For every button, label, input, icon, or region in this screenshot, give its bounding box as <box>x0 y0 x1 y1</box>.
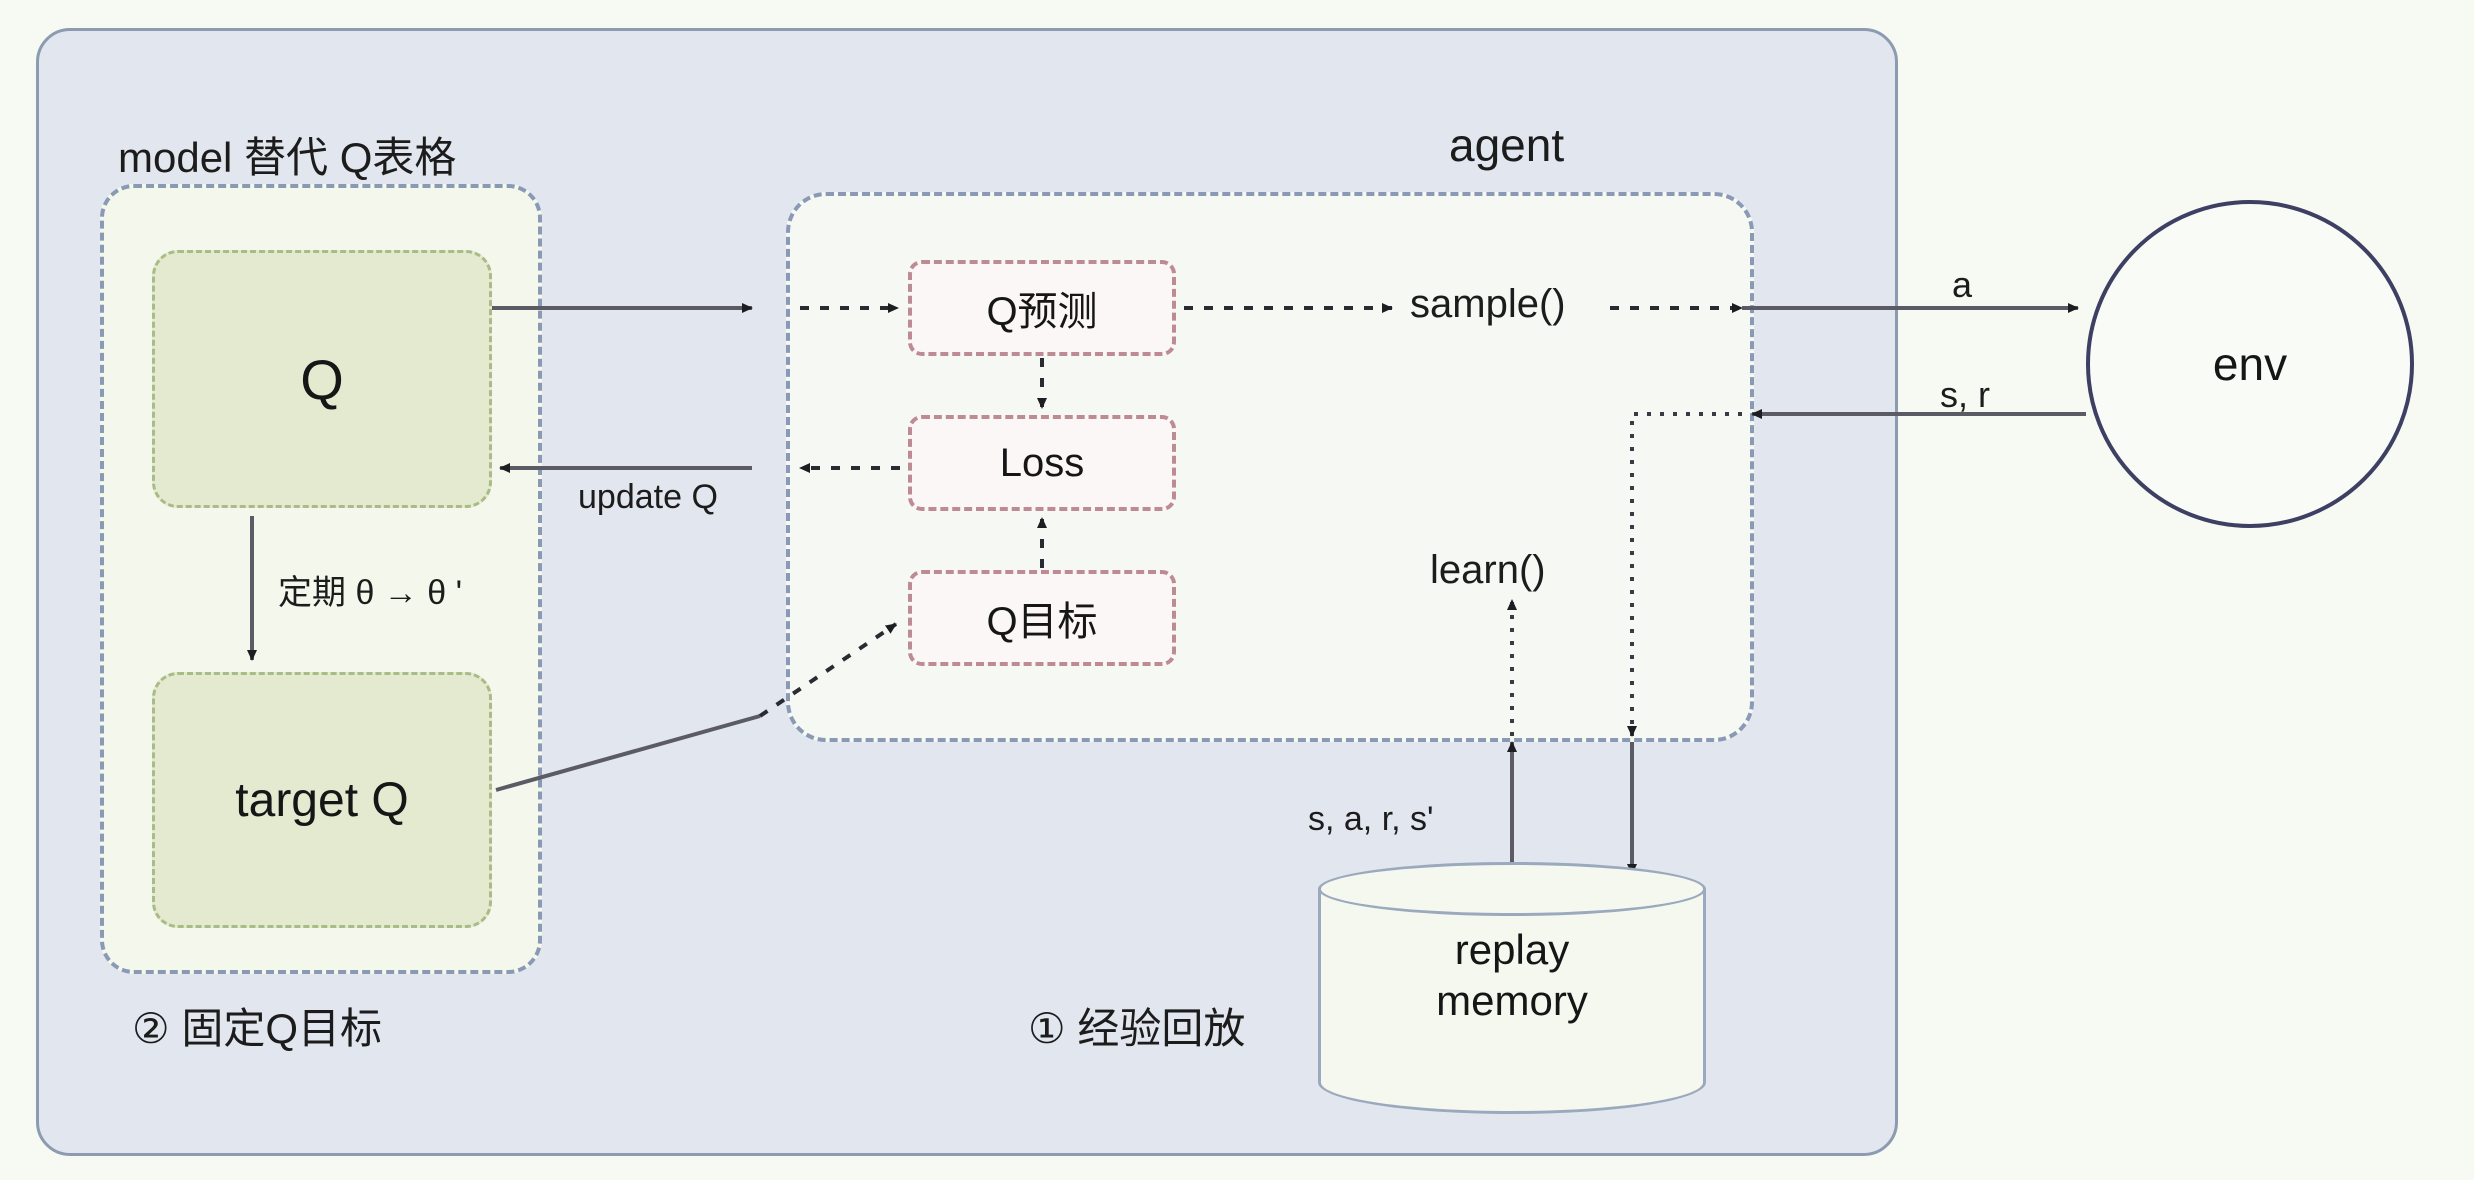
update-q-edge-label: update Q <box>578 478 718 517</box>
environment-node[interactable]: env <box>2086 200 2414 528</box>
replay-memory-node[interactable]: replay memory <box>1318 862 1706 1114</box>
environment-label: env <box>2213 337 2287 391</box>
q-network-label: Q <box>300 347 344 412</box>
target-q-network-node[interactable]: target Q <box>152 672 492 928</box>
loss-node[interactable]: Loss <box>908 415 1176 511</box>
model-group-note: ② 固定Q目标 <box>132 995 382 1056</box>
transition-edge-label: s, a, r, s' <box>1308 800 1434 839</box>
q-prediction-label: Q预测 <box>986 279 1097 337</box>
q-target-node[interactable]: Q目标 <box>908 570 1176 666</box>
agent-group-caption: agent <box>1449 118 1564 172</box>
loss-label: Loss <box>1000 441 1085 486</box>
q-prediction-node[interactable]: Q预测 <box>908 260 1176 356</box>
theta-sync-edge-label: 定期 θ → θ ' <box>278 565 462 614</box>
replay-memory-label: replay memory <box>1318 924 1706 1026</box>
model-group-caption: model 替代 Q表格 <box>118 124 456 185</box>
agent-group-note: ① 经验回放 <box>1028 995 1245 1056</box>
q-target-label: Q目标 <box>986 589 1097 647</box>
learn-function-label[interactable]: learn() <box>1430 548 1546 593</box>
sample-function-label[interactable]: sample() <box>1410 282 1566 327</box>
action-edge-label: a <box>1952 264 1972 306</box>
q-network-node[interactable]: Q <box>152 250 492 508</box>
cylinder-top-ellipse <box>1318 862 1706 916</box>
diagram-canvas: Q target Q Q预测 Loss Q目标 env replay memor… <box>0 0 2474 1180</box>
replay-memory-label-line1: replay <box>1318 924 1706 975</box>
replay-memory-label-line2: memory <box>1318 975 1706 1026</box>
state-reward-edge-label: s, r <box>1940 374 1990 416</box>
target-q-network-label: target Q <box>235 773 408 828</box>
